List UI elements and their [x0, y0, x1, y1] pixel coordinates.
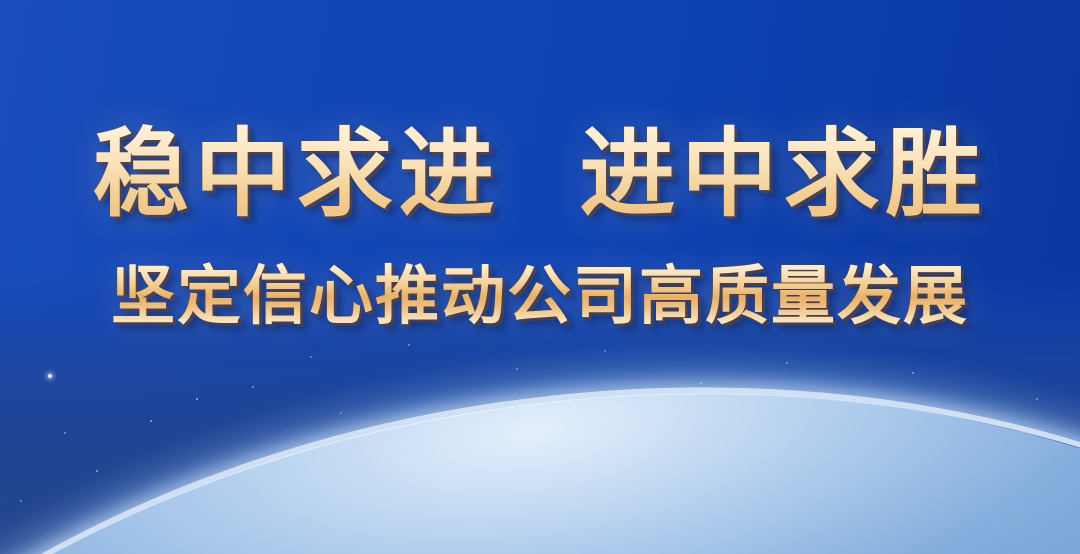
- headline-block: 稳中求进 进中求胜 坚定信心推动公司高质量发展: [0, 118, 1080, 334]
- page-subtitle: 坚定信心推动公司高质量发展: [0, 260, 1080, 334]
- page-title: 稳中求进 进中求胜: [93, 118, 988, 230]
- poster-banner: 稳中求进 进中求胜 坚定信心推动公司高质量发展: [0, 0, 1080, 554]
